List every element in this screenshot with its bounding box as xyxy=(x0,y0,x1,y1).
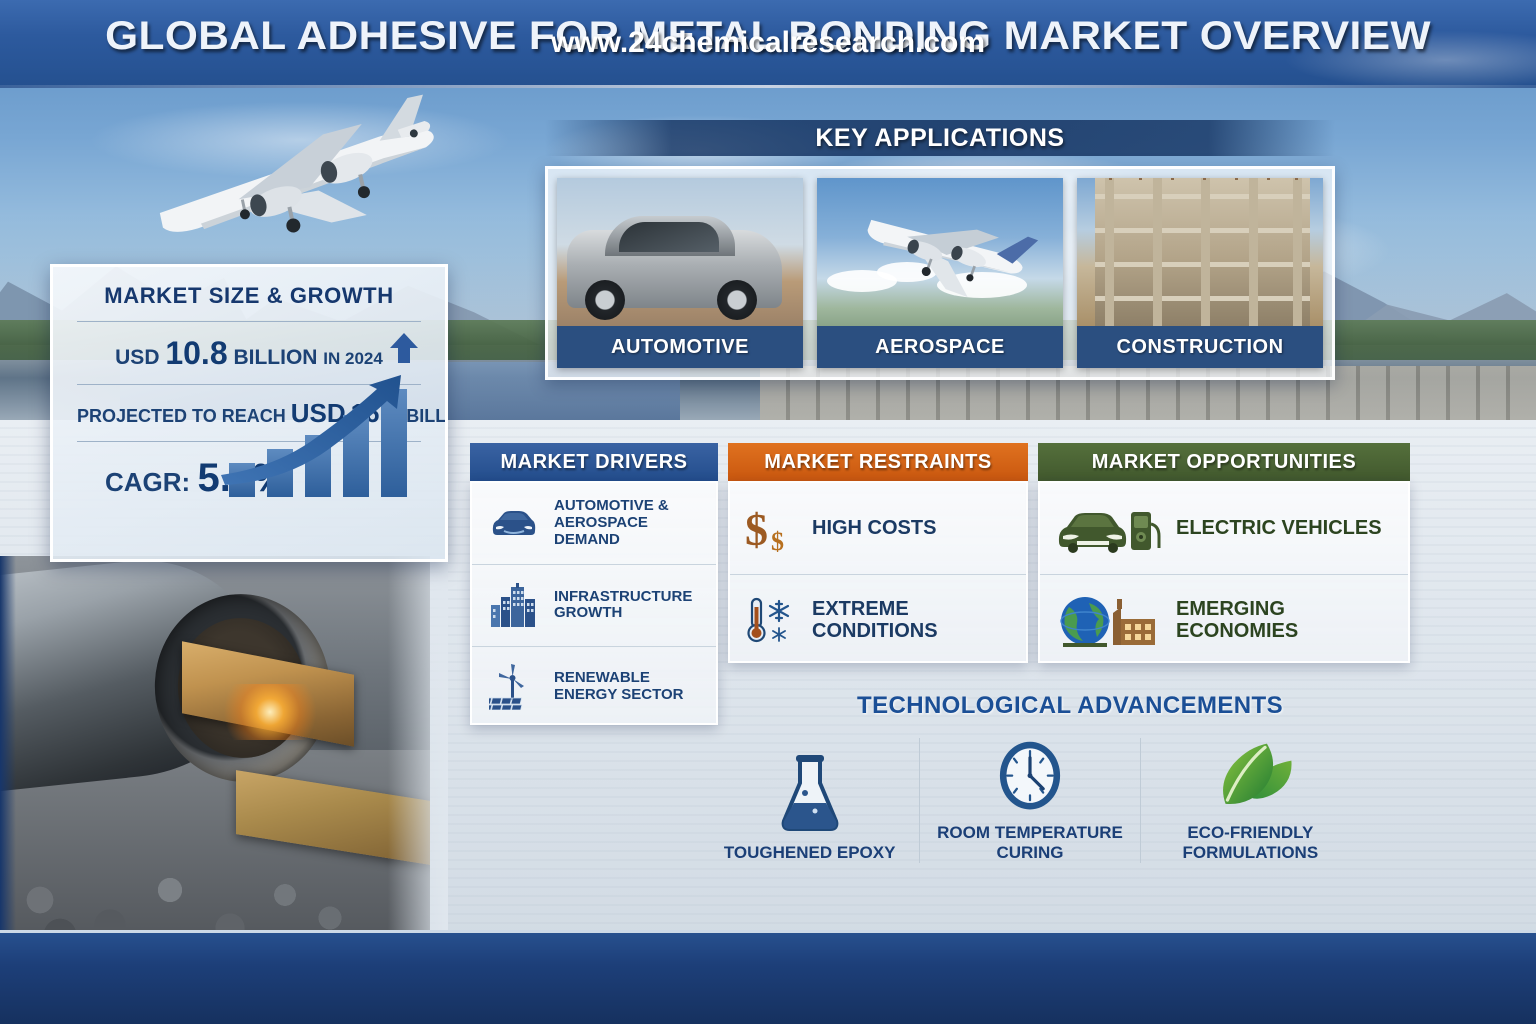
application-label-automotive: AUTOMOTIVE xyxy=(557,326,803,368)
car-window xyxy=(619,222,719,252)
flask-icon xyxy=(774,753,846,837)
car-icon xyxy=(484,509,542,539)
pipe-photo-right-fade xyxy=(388,556,448,940)
restraint-label-high-costs: HIGH COSTS xyxy=(812,517,936,539)
driver-label-automotive-aerospace: AUTOMOTIVE & AEROSPACE DEMAND xyxy=(554,498,704,548)
market-size-growth-card: MARKET SIZE & GROWTH USD 10.8 BILLION IN… xyxy=(50,264,448,562)
tech-item-toughened-epoxy[interactable]: TOUGHENED EPOXY xyxy=(700,738,919,863)
application-card-aerospace[interactable]: AEROSPACE xyxy=(817,178,1063,368)
opportunity-item-emerging-economies[interactable]: EMERGING ECONOMIES xyxy=(1040,574,1408,665)
market-restraints-body: $ $ HIGH COSTS xyxy=(728,481,1028,663)
airplane-photo xyxy=(817,178,1063,326)
left-edge-vignette xyxy=(0,556,16,940)
thermometer-snowflake-icon xyxy=(742,595,800,645)
market-drivers-body: AUTOMOTIVE & AEROSPACE DEMAND xyxy=(470,481,718,725)
driver-label-infrastructure: INFRASTRUCTURE GROWTH xyxy=(554,589,704,623)
market-restraints-panel: MARKET RESTRAINTS $ $ HIGH COSTS xyxy=(728,443,1028,663)
leaf-icon xyxy=(1202,738,1298,817)
construction-site-photo xyxy=(1077,178,1323,326)
airplane-background-image xyxy=(85,88,515,263)
market-opportunities-panel: MARKET OPPORTUNITIES xyxy=(1038,443,1410,663)
page-footer xyxy=(0,930,1536,1024)
cagr-row: CAGR: 5.4% xyxy=(53,456,445,501)
dollar-sign-icon: $ $ xyxy=(742,503,800,555)
clock-icon xyxy=(991,738,1069,817)
svg-text:$: $ xyxy=(771,527,784,555)
city-buildings-icon xyxy=(484,583,542,627)
driver-item-renewable-energy[interactable]: RENEWABLE ENERGY SECTOR xyxy=(472,646,716,727)
market-drivers-title: MARKET DRIVERS xyxy=(470,443,718,481)
market-value-2024: 10.8 xyxy=(165,335,227,371)
up-arrow-icon xyxy=(387,331,421,365)
cagr-label: CAGR: xyxy=(105,467,190,497)
globe-factory-icon xyxy=(1052,593,1164,647)
market-opportunities-title: MARKET OPPORTUNITIES xyxy=(1038,443,1410,481)
tech-item-room-temperature-curing[interactable]: ROOM TEMPERATURE CURING xyxy=(919,738,1139,863)
divider xyxy=(77,321,421,322)
electric-car-charger-icon xyxy=(1052,504,1164,554)
infographic-canvas: GLOBAL ADHESIVE FOR METAL BONDING MARKET… xyxy=(0,0,1536,1024)
key-applications-title: KEY APPLICATIONS xyxy=(545,124,1335,153)
market-opportunities-body: ELECTRIC VEHICLES xyxy=(1038,481,1410,663)
wind-turbine-solar-icon xyxy=(484,664,542,710)
tech-label-eco-friendly-formulations: ECO-FRIENDLY FORMULATIONS xyxy=(1141,823,1360,863)
key-applications-grid: AUTOMOTIVE xyxy=(545,166,1335,380)
application-label-construction: CONSTRUCTION xyxy=(1077,326,1323,368)
restraint-item-high-costs[interactable]: $ $ HIGH COSTS xyxy=(730,483,1026,574)
driver-item-automotive-aerospace[interactable]: AUTOMOTIVE & AEROSPACE DEMAND xyxy=(472,483,716,564)
tech-label-toughened-epoxy: TOUGHENED EPOXY xyxy=(724,843,896,863)
building-frame xyxy=(1095,178,1310,326)
driver-item-infrastructure[interactable]: INFRASTRUCTURE GROWTH xyxy=(472,564,716,645)
restraint-item-extreme-conditions[interactable]: EXTREME CONDITIONS xyxy=(730,574,1026,665)
driver-label-renewable-energy: RENEWABLE ENERGY SECTOR xyxy=(554,670,704,704)
billion-unit: BILLION xyxy=(233,346,317,369)
tech-item-eco-friendly-formulations[interactable]: ECO-FRIENDLY FORMULATIONS xyxy=(1140,738,1360,863)
opportunity-item-electric-vehicles[interactable]: ELECTRIC VEHICLES xyxy=(1040,483,1408,574)
car-wheel-rear xyxy=(717,280,757,320)
application-card-automotive[interactable]: AUTOMOTIVE xyxy=(557,178,803,368)
svg-text:$: $ xyxy=(745,504,768,555)
car-wheel-front xyxy=(585,280,625,320)
market-size-title: MARKET SIZE & GROWTH xyxy=(53,283,445,309)
year-2024-suffix: IN 2024 xyxy=(323,349,383,368)
usd-prefix: USD xyxy=(115,346,159,369)
market-drivers-panel: MARKET DRIVERS AUTOMOTIVE & AEROSPACE DE… xyxy=(470,443,718,725)
weld-spark-glow xyxy=(215,684,325,740)
car-photo xyxy=(557,178,803,326)
opportunity-label-emerging-economies: EMERGING ECONOMIES xyxy=(1176,598,1396,643)
restraint-label-extreme-conditions: EXTREME CONDITIONS xyxy=(812,598,1014,643)
growth-bar-chart xyxy=(219,371,429,501)
market-size-2024-text: USD 10.8 BILLION IN 2024 xyxy=(77,335,421,372)
metal-pipe-photo xyxy=(0,556,430,940)
opportunity-label-electric-vehicles: ELECTRIC VEHICLES xyxy=(1176,517,1382,539)
application-label-aerospace: AEROSPACE xyxy=(817,326,1063,368)
tech-label-room-temperature-curing: ROOM TEMPERATURE CURING xyxy=(920,823,1139,863)
airplane-icon xyxy=(825,184,1063,319)
market-restraints-title: MARKET RESTRAINTS xyxy=(728,443,1028,481)
footer-website-url[interactable]: www.24chemicalresearch.com xyxy=(0,26,1536,60)
technological-advancements-title: TECHNOLOGICAL ADVANCEMENTS xyxy=(720,692,1420,720)
application-card-construction[interactable]: CONSTRUCTION xyxy=(1077,178,1323,368)
market-size-2024-row: USD 10.8 BILLION IN 2024 xyxy=(53,335,445,372)
technological-advancements-row: TOUGHENED EPOXY RO xyxy=(700,738,1360,863)
